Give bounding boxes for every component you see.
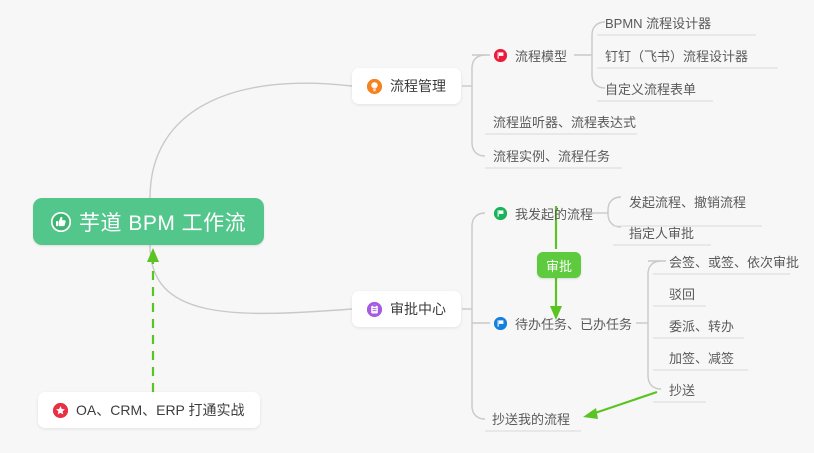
branch-label: 流程管理: [390, 76, 446, 96]
node-label: 发起流程、撤销流程: [629, 192, 746, 211]
leaf-dingtalk-designer[interactable]: 钉钉（飞书）流程设计器: [601, 42, 752, 68]
node-label: 抄送我的流程: [492, 409, 570, 428]
node-label: 钉钉（飞书）流程设计器: [605, 46, 748, 65]
leaf-reject[interactable]: 驳回: [665, 280, 699, 306]
lightbulb-icon: [367, 79, 382, 94]
link-mine-bracket: [608, 197, 621, 227]
link-root-to-approval-center: [150, 245, 352, 313]
branch-process-management[interactable]: 流程管理: [352, 68, 461, 104]
root-label: 芋道 BPM 工作流: [79, 207, 246, 237]
arrow-cc-to-ccme: [592, 392, 657, 414]
leaf-assignee-approval[interactable]: 指定人审批: [625, 219, 698, 245]
link-todo-bracket: [648, 261, 661, 389]
branch-label: 审批中心: [390, 299, 446, 319]
clipboard-icon: [367, 302, 382, 317]
leaf-add-remove-sign[interactable]: 加签、减签: [665, 344, 738, 370]
mindmap-canvas: 芋道 BPM 工作流 流程管理 流程模型 BPMN 流程设计器 钉钉（飞书）流程: [0, 0, 814, 453]
leaf-custom-form[interactable]: 自定义流程表单: [601, 75, 700, 101]
tag-label: 审批: [546, 256, 572, 275]
leaf-initiate-cancel[interactable]: 发起流程、撤销流程: [625, 188, 750, 214]
flag-green-icon: [494, 207, 507, 220]
leaf-process-instance[interactable]: 流程实例、流程任务: [489, 142, 614, 168]
node-label: 委派、转办: [669, 316, 734, 335]
node-label: 我发起的流程: [515, 204, 593, 223]
node-label: 流程模型: [515, 46, 567, 65]
node-label: 流程实例、流程任务: [493, 146, 610, 165]
thumbs-up-icon: [51, 212, 71, 232]
leaf-cc-to-me[interactable]: 抄送我的流程: [488, 405, 574, 431]
arrowhead-cc-to-ccme: [583, 408, 598, 419]
link-pm-bracket: [472, 55, 485, 156]
node-label: 驳回: [669, 284, 695, 303]
node-label: 流程监听器、流程表达式: [493, 112, 636, 131]
root-node[interactable]: 芋道 BPM 工作流: [33, 198, 264, 245]
node-label: BPMN 流程设计器: [605, 13, 711, 32]
footer-node-integration[interactable]: OA、CRM、ERP 打通实战: [38, 392, 260, 428]
node-label: 自定义流程表单: [605, 79, 696, 98]
node-todo-done-tasks[interactable]: 待办任务、已办任务: [490, 310, 636, 336]
leaf-bpmn-designer[interactable]: BPMN 流程设计器: [601, 9, 715, 35]
footer-node-label: OA、CRM、ERP 打通实战: [76, 400, 245, 420]
branch-approval-center[interactable]: 审批中心: [352, 291, 461, 327]
node-label: 待办任务、已办任务: [515, 314, 632, 333]
link-ac-bracket: [472, 213, 485, 419]
node-label: 指定人审批: [629, 223, 694, 242]
link-root-to-process-management: [150, 83, 352, 198]
leaf-process-listener[interactable]: 流程监听器、流程表达式: [489, 108, 640, 134]
leaf-cc[interactable]: 抄送: [665, 376, 699, 402]
flag-blue-icon: [494, 317, 507, 330]
arrowhead-footer-to-root: [147, 248, 159, 262]
node-process-model[interactable]: 流程模型: [490, 42, 571, 68]
flag-red-icon: [494, 49, 507, 62]
star-icon: [53, 403, 68, 418]
leaf-delegate-transfer[interactable]: 委派、转办: [665, 312, 738, 338]
node-label: 会签、或签、依次审批: [669, 252, 799, 271]
node-my-initiated[interactable]: 我发起的流程: [490, 200, 597, 226]
tag-approval[interactable]: 审批: [537, 252, 581, 278]
node-label: 加签、减签: [669, 348, 734, 367]
node-label: 抄送: [669, 380, 695, 399]
leaf-countersign[interactable]: 会签、或签、依次审批: [665, 248, 803, 274]
